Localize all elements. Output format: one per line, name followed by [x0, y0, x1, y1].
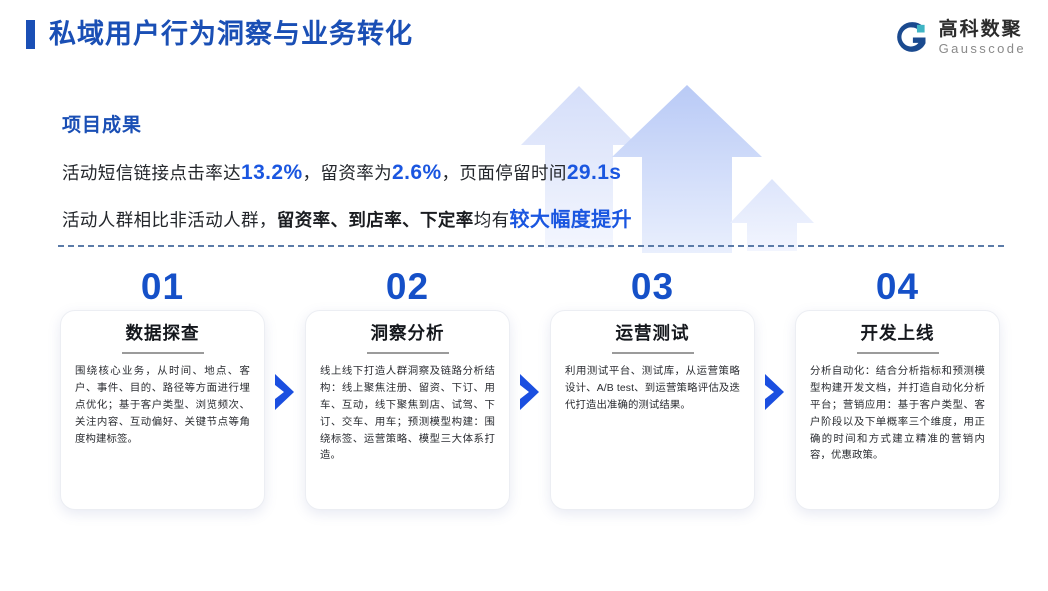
logo-name-cn: 高科数聚: [939, 20, 1026, 39]
step-card-body-03[interactable]: 运营测试 利用测试平台、测试库，从运营策略设计、A/B test、到运营策略评估…: [550, 310, 755, 510]
step-title-rule-04: [857, 352, 939, 354]
results-line-metrics: 活动短信链接点击率达13.2%，留资率为2.6%，页面停留时间29.1s: [62, 160, 632, 185]
step-title-03: 运营测试: [565, 324, 740, 343]
metrics-text-2: ，留资率为: [303, 163, 393, 183]
page-title: 私域用户行为洞察与业务转化: [49, 21, 413, 48]
section-divider: [58, 245, 1004, 247]
step-card-04[interactable]: 04 开发上线 分析自动化：结合分析指标和预测模型构建开发文档，并打造自动化分析…: [795, 268, 1000, 510]
metric-lead-rate-value: 2.6%: [392, 161, 441, 184]
logo-wordmark: 高科数聚 Gausscode: [939, 20, 1026, 55]
step-description-04: 分析自动化：结合分析指标和预测模型构建开发文档，并打造自动化分析平台；营销应用：…: [810, 364, 985, 465]
logo-name-en: Gausscode: [939, 42, 1026, 55]
comparison-text-2: 均有: [474, 210, 510, 230]
project-results-section: 项目成果 活动短信链接点击率达13.2%，留资率为2.6%，页面停留时间29.1…: [62, 110, 632, 250]
step-title-rule-02: [367, 352, 449, 354]
step-description-03: 利用测试平台、测试库，从运营策略设计、A/B test、到运营策略评估及迭代打造…: [565, 364, 740, 415]
step-title-01: 数据探查: [75, 324, 250, 343]
comparison-highlight: 较大幅度提升: [510, 209, 632, 231]
arrow-center-large: [612, 85, 762, 253]
metric-dwell-time-value: 29.1s: [567, 161, 622, 184]
metrics-text-3: ，页面停留时间: [442, 163, 567, 183]
step-title-02: 洞察分析: [320, 324, 495, 343]
metrics-text-1: 活动短信链接点击率达: [62, 163, 241, 183]
process-steps: 01 数据探查 围绕核心业务，从时间、地点、客户、事件、目的、路径等方面进行埋点…: [0, 268, 1048, 528]
step-card-body-02[interactable]: 洞察分析 线上线下打造人群洞察及链路分析结构：线上聚焦注册、留资、下订、用车、互…: [305, 310, 510, 510]
step-card-03[interactable]: 03 运营测试 利用测试平台、测试库，从运营策略设计、A/B test、到运营策…: [550, 268, 755, 510]
metric-ctr-value: 13.2%: [241, 161, 303, 184]
brand-logo: 高科数聚 Gausscode: [894, 19, 1026, 55]
results-heading: 项目成果: [62, 110, 632, 137]
title-accent-bar: [26, 20, 35, 49]
step-description-02: 线上线下打造人群洞察及链路分析结构：线上聚焦注册、留资、下订、用车、互动，线下聚…: [320, 364, 495, 465]
step-number-04: 04: [795, 268, 1000, 308]
step-number-03: 03: [550, 268, 755, 308]
arrow-right-small: [730, 179, 814, 251]
step-title-rule-03: [612, 352, 694, 354]
step-title-rule-01: [122, 352, 204, 354]
results-line-comparison: 活动人群相比非活动人群，留资率、到店率、下定率均有较大幅度提升: [62, 203, 632, 232]
comparison-text-1: 活动人群相比非活动人群，: [62, 210, 277, 230]
step-card-body-01[interactable]: 数据探查 围绕核心业务，从时间、地点、客户、事件、目的、路径等方面进行埋点优化；…: [60, 310, 265, 510]
slide-header: 私域用户行为洞察与业务转化 高科数聚 Gausscode: [0, 0, 1048, 78]
step-number-02: 02: [305, 268, 510, 308]
step-card-02[interactable]: 02 洞察分析 线上线下打造人群洞察及链路分析结构：线上聚焦注册、留资、下订、用…: [305, 268, 510, 510]
step-card-body-04[interactable]: 开发上线 分析自动化：结合分析指标和预测模型构建开发文档，并打造自动化分析平台；…: [795, 310, 1000, 510]
page-title-group: 私域用户行为洞察与业务转化: [26, 20, 413, 49]
chevron-right-icon-3: [762, 372, 788, 412]
chevron-right-icon-1: [272, 372, 298, 412]
comparison-metrics-bold: 留资率、到店率、下定率: [277, 210, 474, 230]
chevron-right-icon-2: [517, 372, 543, 412]
slide-canvas: 私域用户行为洞察与业务转化 高科数聚 Gausscode 项目成果 活动短信链接…: [0, 0, 1048, 591]
step-number-01: 01: [60, 268, 265, 308]
step-description-01: 围绕核心业务，从时间、地点、客户、事件、目的、路径等方面进行埋点优化；基于客户类…: [75, 364, 250, 448]
gausscode-logo-icon: [894, 19, 930, 55]
step-card-01[interactable]: 01 数据探查 围绕核心业务，从时间、地点、客户、事件、目的、路径等方面进行埋点…: [60, 268, 265, 510]
step-title-04: 开发上线: [810, 324, 985, 343]
